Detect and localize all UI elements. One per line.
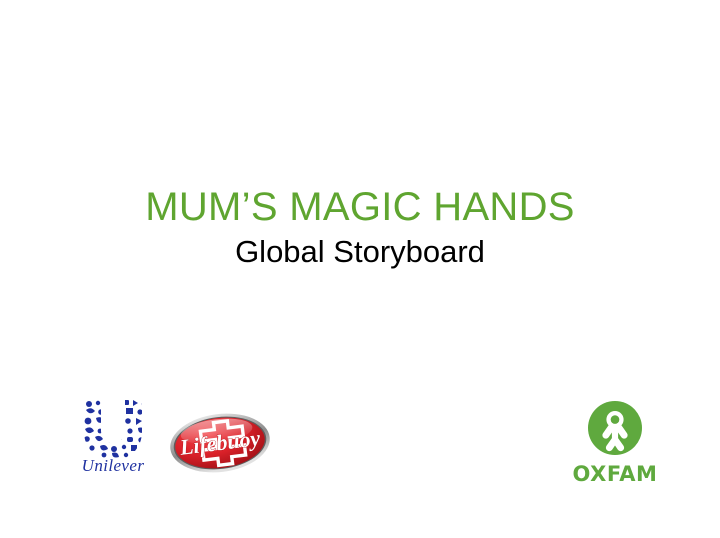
presentation-slide: MUM’S MAGIC HANDS Global Storyboard — [0, 0, 720, 538]
title-block: MUM’S MAGIC HANDS Global Storyboard — [0, 186, 720, 270]
oxfam-wordmark: OXFAM — [572, 462, 658, 486]
logo-oxfam: OXFAM — [572, 400, 658, 488]
oxfam-figure-icon — [572, 400, 658, 460]
lifebuoy-badge-icon: Lifebuoy — [168, 412, 272, 474]
unilever-u-icon — [62, 396, 164, 458]
page-title: MUM’S MAGIC HANDS — [0, 186, 720, 229]
logo-row: Unilever — [0, 390, 720, 500]
logo-unilever: Unilever — [62, 396, 164, 482]
page-subtitle: Global Storyboard — [0, 233, 720, 270]
logo-lifebuoy: Lifebuoy — [168, 412, 272, 474]
unilever-wordmark: Unilever — [62, 456, 164, 476]
